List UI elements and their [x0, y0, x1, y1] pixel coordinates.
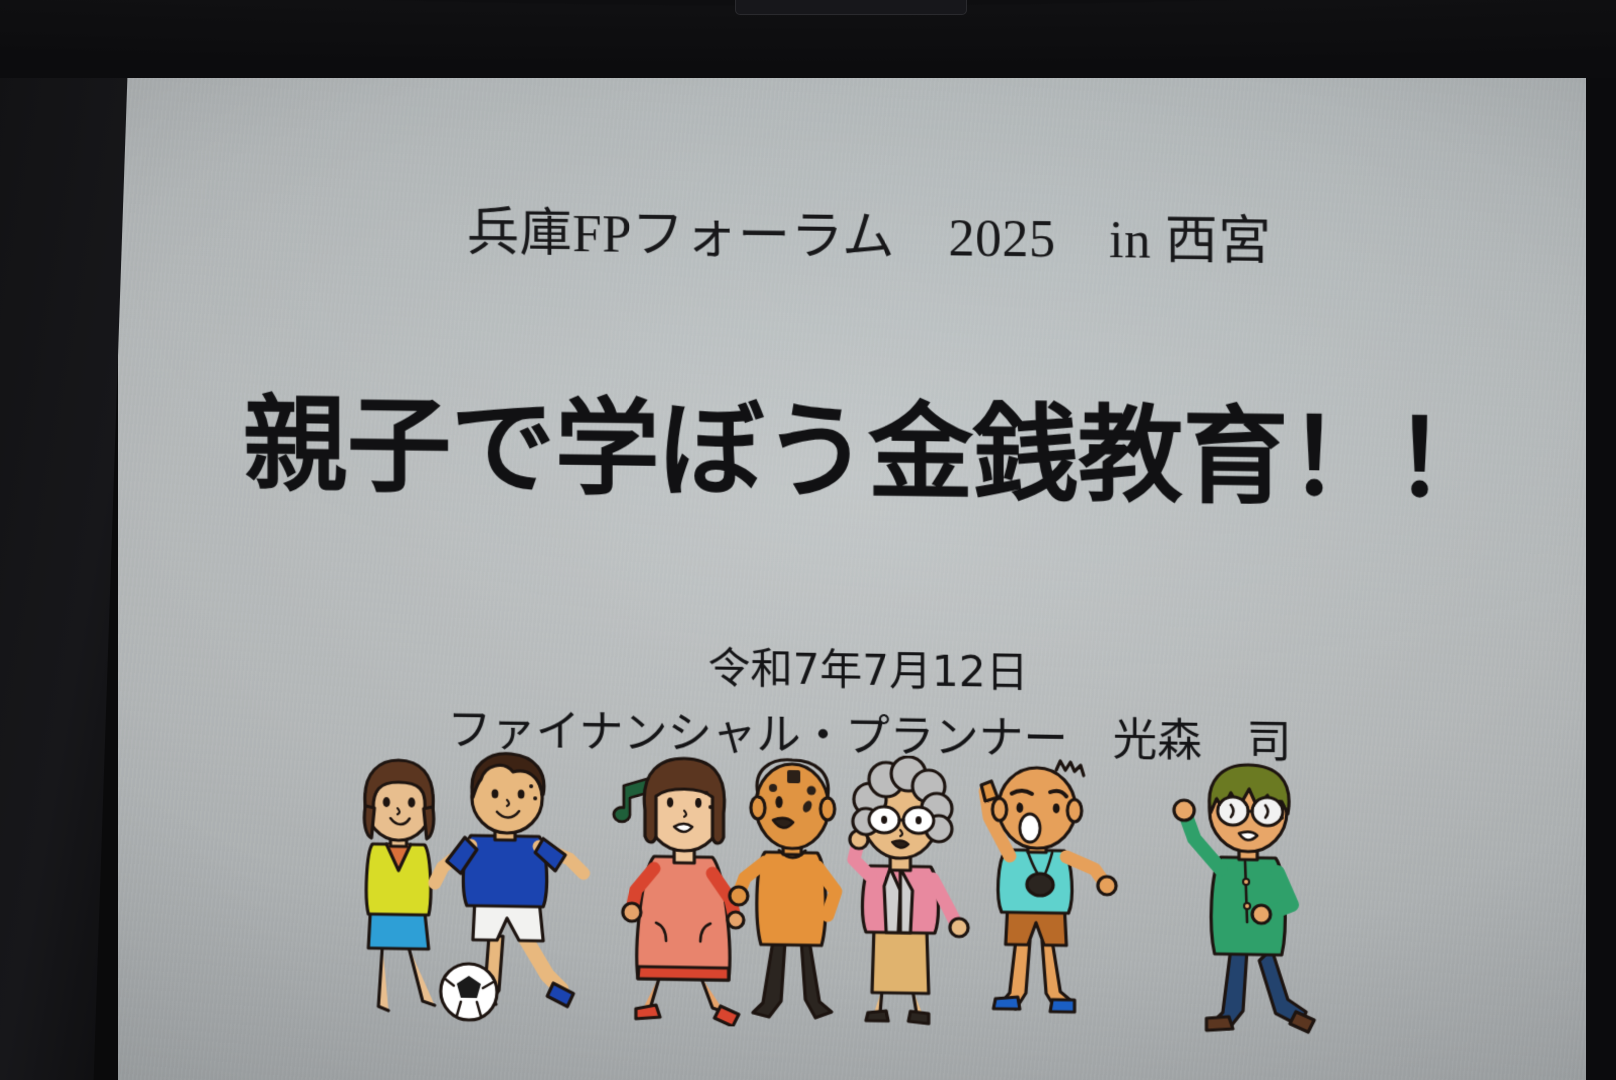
ceiling-fixture-notch [735, 0, 967, 15]
figure-woman-pink [850, 756, 968, 1024]
prop-soccer-ball [441, 963, 497, 1020]
figure-man-green [1174, 764, 1314, 1032]
slide-main-title: 親子で学ぼう金銭教育！！ [118, 358, 1616, 529]
projection-screen: 兵庫FPフォーラム 2025 in 西宮 親子で学ぼう金銭教育！！ 令和7年7月… [118, 26, 1616, 1080]
photo-of-projection-screen: 兵庫FPフォーラム 2025 in 西宮 親子で学ぼう金銭教育！！ 令和7年7月… [0, 0, 1616, 1080]
slide: 兵庫FPフォーラム 2025 in 西宮 親子で学ぼう金銭教育！！ 令和7年7月… [118, 26, 1616, 1080]
figure-boy-teal [981, 760, 1116, 1013]
figure-girl-yellow [364, 760, 434, 1012]
room-wall-right [1586, 0, 1616, 1080]
illustration-svg [346, 747, 1377, 1037]
figure-man-orange [730, 759, 836, 1018]
slide-header-text: 兵庫FPフォーラム 2025 in 西宮 [118, 186, 1616, 278]
illustration-seven-people [346, 747, 1377, 1037]
figure-girl-salmon [623, 758, 744, 1027]
room-wall-left [0, 0, 130, 1080]
